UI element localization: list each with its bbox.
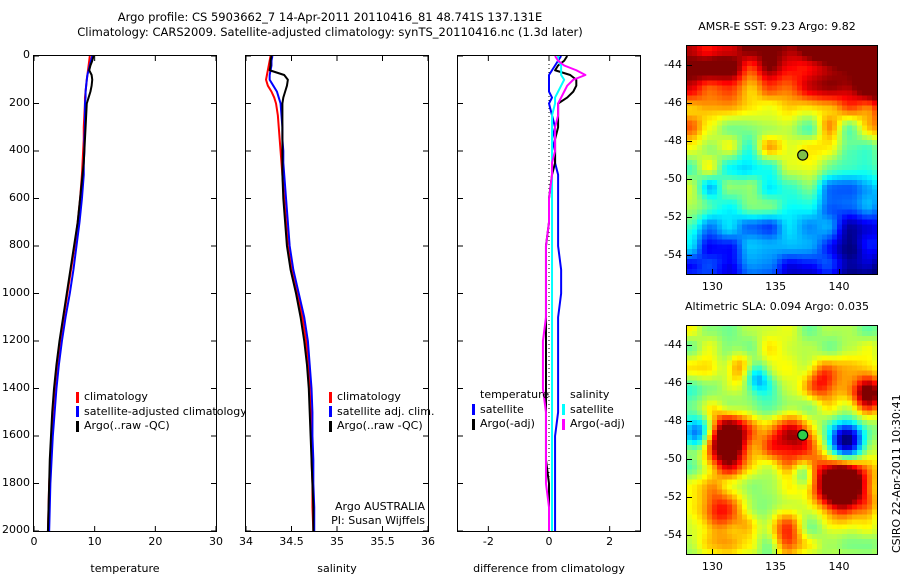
longitude-tick-label: 130	[692, 560, 732, 573]
salinity-axis-label: salinity	[245, 562, 429, 575]
legend-item-sal-satellite-diff: satellite	[562, 403, 625, 418]
latitude-tick-mark	[687, 217, 692, 218]
legend-item-temp-argo-adj: Argo(-adj)	[472, 417, 549, 432]
temperature-plot-area	[34, 56, 216, 531]
legend-item-climatology: climatology	[76, 390, 247, 405]
depth-tick-label: 1800	[2, 476, 30, 489]
legend-label-sal-argo: Argo(..raw -QC)	[337, 419, 423, 434]
legend-swatch-temp-argo-adj	[472, 419, 475, 430]
latitude-tick-mark	[687, 459, 692, 460]
salinity-panel	[245, 55, 429, 532]
x-tick-label: 0	[529, 535, 569, 548]
legend-group-title-salinity: salinity	[562, 388, 625, 403]
x-tick-label: 20	[135, 535, 175, 548]
legend-swatch-temp-satellite	[472, 404, 475, 415]
latitude-tick-label: -54	[658, 248, 682, 261]
depth-tick-label: 400	[9, 143, 30, 156]
depth-tick-label: 800	[9, 238, 30, 251]
longitude-tick-mark	[712, 549, 713, 554]
difference-legend-salinity: salinity satellite Argo(-adj)	[562, 388, 625, 432]
x-tick-label: 34.5	[272, 535, 312, 548]
longitude-tick-mark	[839, 549, 840, 554]
temperature-axis-label: temperature	[33, 562, 217, 575]
argo-profile-figure: Argo profile: CS 5903662_7 14-Apr-2011 2…	[0, 0, 900, 580]
longitude-tick-mark	[839, 269, 840, 274]
latitude-tick-mark	[687, 421, 692, 422]
legend-item-sal-satellite-adjusted: satellite adj. clim.	[329, 405, 434, 420]
salinity-legend: climatology satellite adj. clim. Argo(..…	[329, 390, 434, 434]
x-tick-label: 10	[75, 535, 115, 548]
latitude-tick-label: -46	[658, 96, 682, 109]
sla-map-area	[687, 326, 877, 554]
float-position-marker	[798, 150, 808, 160]
latitude-tick-label: -44	[658, 338, 682, 351]
longitude-tick-mark	[712, 269, 713, 274]
legend-label-climatology: climatology	[84, 390, 148, 405]
latitude-tick-label: -54	[658, 528, 682, 541]
figure-title: Argo profile: CS 5903662_7 14-Apr-2011 2…	[0, 10, 660, 40]
depth-tick-label: 1400	[2, 381, 30, 394]
credit-line1: Argo AUSTRALIA	[249, 500, 425, 514]
difference-panel	[457, 55, 641, 532]
sst-map-title: AMSR-E SST: 9.23 Argo: 9.82	[672, 20, 882, 33]
legend-item-sal-argo-adj: Argo(-adj)	[562, 417, 625, 432]
temperature-panel	[33, 55, 217, 532]
legend-label-sal-argo-adj: Argo(-adj)	[570, 417, 625, 432]
depth-tick-label: 1600	[2, 428, 30, 441]
figure-title-line1: Argo profile: CS 5903662_7 14-Apr-2011 2…	[0, 10, 660, 25]
float-position-marker	[798, 430, 808, 440]
depth-tick-label: 600	[9, 191, 30, 204]
longitude-tick-label: 140	[819, 280, 859, 293]
legend-swatch-satellite-adjusted	[76, 406, 79, 417]
longitude-tick-label: 130	[692, 280, 732, 293]
legend-item-temp-satellite: satellite	[472, 403, 549, 418]
legend-item-sal-argo: Argo(..raw -QC)	[329, 419, 434, 434]
latitude-tick-mark	[687, 141, 692, 142]
legend-item-sal-climatology: climatology	[329, 390, 434, 405]
longitude-tick-mark	[776, 269, 777, 274]
sla-map-panel	[686, 325, 878, 555]
credit-block: Argo AUSTRALIA PI: Susan Wijffels	[249, 500, 425, 528]
temperature-legend: climatology satellite-adjusted climatolo…	[76, 390, 247, 434]
legend-label-argo: Argo(..raw -QC)	[84, 419, 170, 434]
difference-legend-temperature: temperature satellite Argo(-adj)	[472, 388, 549, 432]
legend-item-argo: Argo(..raw -QC)	[76, 419, 247, 434]
credit-line2: PI: Susan Wijffels	[249, 514, 425, 528]
x-tick-label: 0	[14, 535, 54, 548]
csiro-timestamp: CSIRO 22-Apr-2011 10:30:41	[890, 394, 900, 553]
latitude-tick-mark	[687, 383, 692, 384]
depth-tick-label: 1200	[2, 333, 30, 346]
figure-title-line2: Climatology: CARS2009. Satellite-adjuste…	[0, 25, 660, 40]
latitude-tick-mark	[687, 497, 692, 498]
longitude-tick-label: 140	[819, 560, 859, 573]
legend-item-satellite-adjusted: satellite-adjusted climatology	[76, 405, 247, 420]
latitude-tick-mark	[687, 255, 692, 256]
depth-tick-label: 200	[9, 96, 30, 109]
depth-tick-label: 1000	[2, 286, 30, 299]
sst-map-panel	[686, 45, 878, 275]
longitude-tick-label: 135	[756, 280, 796, 293]
latitude-tick-label: -52	[658, 490, 682, 503]
latitude-tick-label: -52	[658, 210, 682, 223]
legend-label-temp-argo-adj: Argo(-adj)	[480, 417, 535, 432]
latitude-tick-mark	[687, 65, 692, 66]
latitude-tick-label: -46	[658, 376, 682, 389]
longitude-tick-label: 135	[756, 560, 796, 573]
legend-swatch-climatology	[76, 392, 79, 403]
latitude-tick-mark	[687, 179, 692, 180]
x-tick-label: 35.5	[363, 535, 403, 548]
latitude-tick-mark	[687, 535, 692, 536]
legend-label-sal-satellite-diff: satellite	[570, 403, 614, 418]
latitude-tick-label: -50	[658, 172, 682, 185]
legend-swatch-sal-argo-adj	[562, 419, 565, 430]
legend-swatch-sal-argo	[329, 421, 332, 432]
x-tick-label: -2	[468, 535, 508, 548]
x-tick-label: 36	[408, 535, 448, 548]
latitude-tick-label: -50	[658, 452, 682, 465]
latitude-tick-label: -48	[658, 414, 682, 427]
salinity-plot-area	[246, 56, 428, 531]
legend-group-title-temperature: temperature	[472, 388, 549, 403]
x-tick-label: 35	[317, 535, 357, 548]
depth-tick-label: 0	[23, 48, 30, 61]
latitude-tick-mark	[687, 103, 692, 104]
x-tick-label: 2	[590, 535, 630, 548]
sla-map-title: Altimetric SLA: 0.094 Argo: 0.035	[672, 300, 882, 313]
longitude-tick-mark	[776, 549, 777, 554]
difference-axis-label: difference from climatology	[437, 562, 661, 575]
legend-swatch-sal-satellite-adjusted	[329, 406, 332, 417]
x-tick-label: 34	[226, 535, 266, 548]
legend-swatch-sal-satellite-diff	[562, 404, 565, 415]
difference-plot-area	[458, 56, 640, 531]
latitude-tick-label: -44	[658, 58, 682, 71]
legend-swatch-argo	[76, 421, 79, 432]
legend-label-sal-climatology: climatology	[337, 390, 401, 405]
legend-label-temp-satellite: satellite	[480, 403, 524, 418]
legend-label-sal-satellite-adjusted: satellite adj. clim.	[337, 405, 434, 420]
latitude-tick-label: -48	[658, 134, 682, 147]
legend-label-satellite-adjusted: satellite-adjusted climatology	[84, 405, 247, 420]
latitude-tick-mark	[687, 345, 692, 346]
sst-map-area	[687, 46, 877, 274]
legend-swatch-sal-climatology	[329, 392, 332, 403]
